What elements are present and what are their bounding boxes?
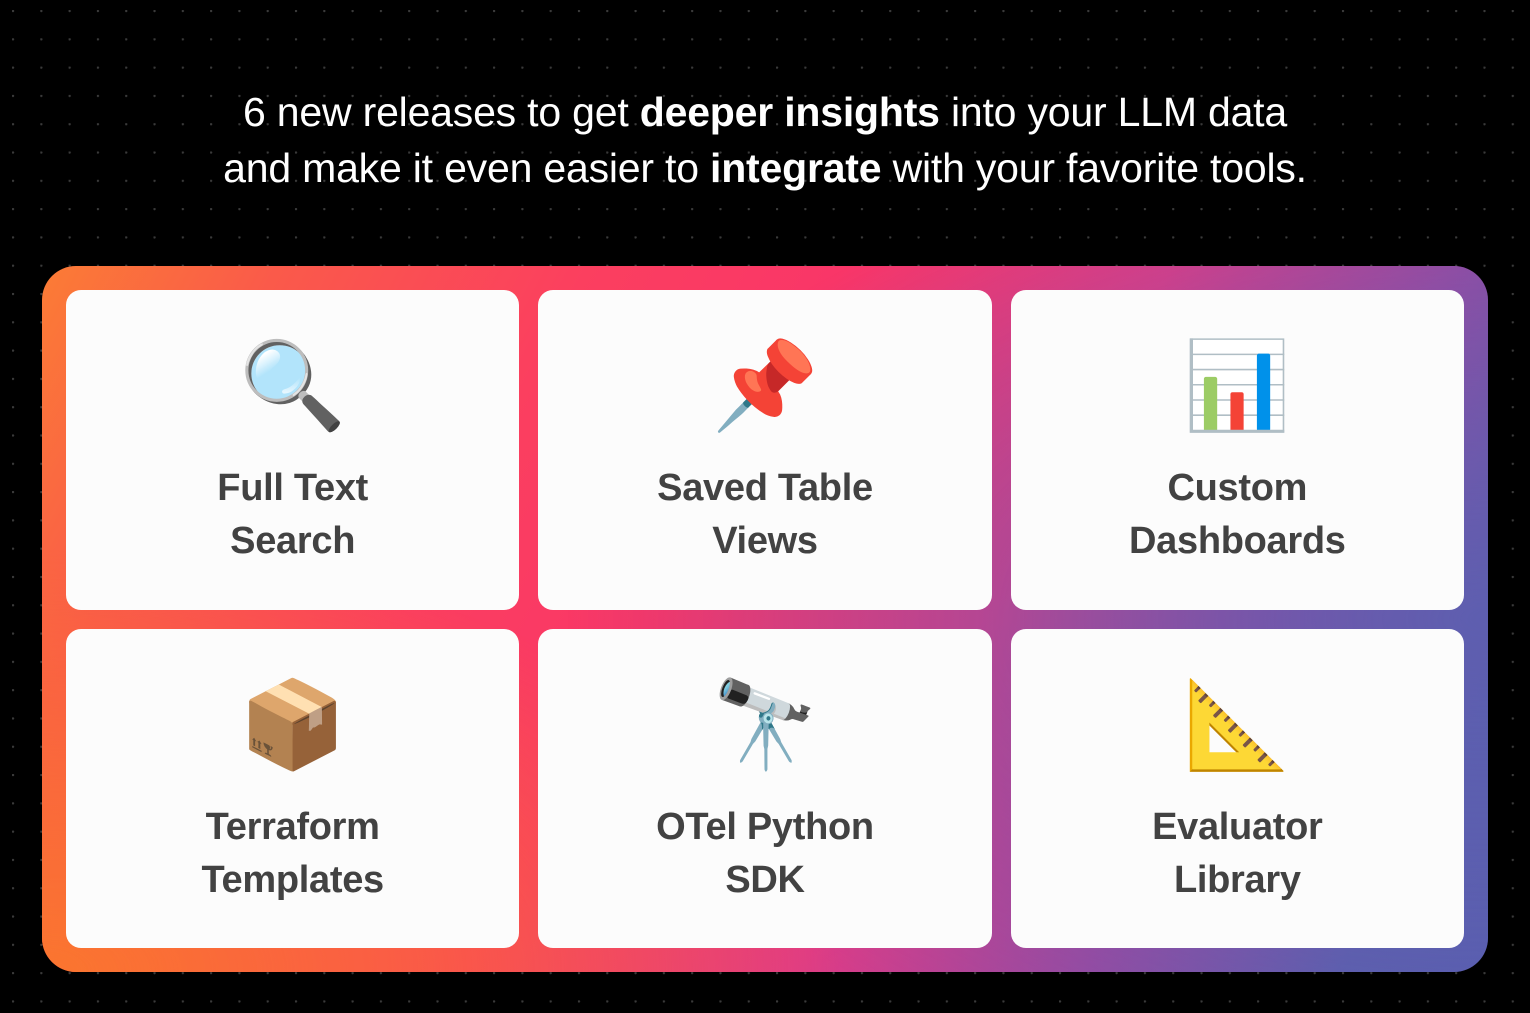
feature-card-full-text-search[interactable]: 🔍 Full Text Search — [66, 290, 519, 610]
magnifying-glass-icon: 🔍 — [239, 334, 346, 438]
feature-card-evaluator-library[interactable]: 📐 Evaluator Library — [1011, 629, 1464, 949]
package-icon: 📦 — [239, 673, 346, 777]
feature-card-label-line-2: Dashboards — [1129, 515, 1346, 568]
feature-card-label-line-2: SDK — [656, 854, 874, 907]
feature-card-label-line-2: Views — [657, 515, 873, 568]
gradient-frame: 🔍 Full Text Search 📌 Saved Table Views 📊… — [42, 266, 1488, 972]
feature-card-label-line-1: OTel Python — [656, 801, 874, 854]
pushpin-icon: 📌 — [711, 334, 818, 438]
feature-card-label-line-2: Search — [217, 515, 368, 568]
feature-card-custom-dashboards[interactable]: 📊 Custom Dashboards — [1011, 290, 1464, 610]
triangular-ruler-icon: 📐 — [1184, 673, 1291, 777]
telescope-icon: 🔭 — [711, 673, 818, 777]
feature-card-label-line-2: Templates — [201, 854, 383, 907]
feature-card-label: OTel Python SDK — [656, 801, 874, 907]
headline-line-2: and make it even easier to integrate wit… — [40, 140, 1490, 196]
headline-line-1-pre: 6 new releases to get — [243, 89, 640, 135]
feature-card-saved-table-views[interactable]: 📌 Saved Table Views — [538, 290, 991, 610]
feature-card-label-line-1: Full Text — [217, 462, 368, 515]
feature-card-label-line-1: Evaluator — [1152, 801, 1322, 854]
feature-card-otel-python-sdk[interactable]: 🔭 OTel Python SDK — [538, 629, 991, 949]
headline-emphasis-integrate: integrate — [710, 145, 881, 191]
feature-card-label-line-1: Terraform — [201, 801, 383, 854]
feature-card-label: Saved Table Views — [657, 462, 873, 568]
headline-line-1-post: into your LLM data — [940, 89, 1287, 135]
headline-line-2-pre: and make it even easier to — [223, 145, 710, 191]
feature-card-label: Custom Dashboards — [1129, 462, 1346, 568]
feature-card-label-line-1: Custom — [1129, 462, 1346, 515]
feature-card-label: Full Text Search — [217, 462, 368, 568]
feature-card-grid: 🔍 Full Text Search 📌 Saved Table Views 📊… — [66, 290, 1464, 948]
headline-line-1: 6 new releases to get deeper insights in… — [40, 84, 1490, 140]
headline: 6 new releases to get deeper insights in… — [0, 84, 1530, 196]
feature-card-label-line-1: Saved Table — [657, 462, 873, 515]
feature-card-label-line-2: Library — [1152, 854, 1322, 907]
feature-card-terraform-templates[interactable]: 📦 Terraform Templates — [66, 629, 519, 949]
headline-emphasis-insights: deeper insights — [640, 89, 940, 135]
bar-chart-icon: 📊 — [1184, 334, 1291, 438]
headline-line-2-post: with your favorite tools. — [881, 145, 1306, 191]
feature-card-label: Terraform Templates — [201, 801, 383, 907]
feature-card-label: Evaluator Library — [1152, 801, 1322, 907]
